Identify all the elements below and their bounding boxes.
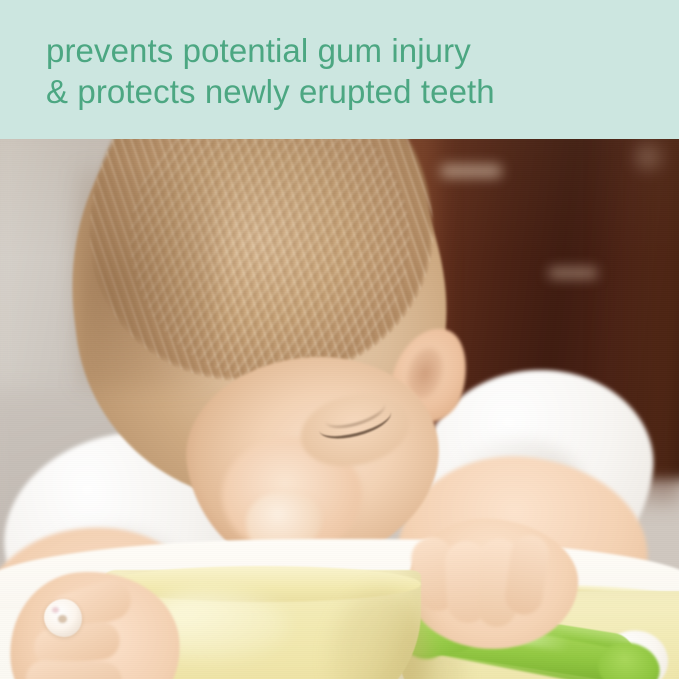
cereal-puff-speck: [52, 607, 59, 613]
product-feature-image: prevents potential gum injury & protects…: [0, 0, 679, 679]
left-finger-3: [25, 659, 122, 679]
cereal-puff-hole: [58, 615, 67, 623]
lifestyle-photo: [0, 139, 679, 679]
feature-banner: prevents potential gum injury & protects…: [0, 0, 679, 139]
wood-highlight-upper: [440, 164, 502, 178]
banner-headline-line-1: prevents potential gum injury: [46, 30, 646, 71]
banner-text-block: prevents potential gum injury & protects…: [46, 30, 646, 112]
banner-headline-line-2: & protects newly erupted teeth: [46, 71, 646, 112]
head-shadow: [78, 169, 218, 389]
wood-highlight-lower: [548, 267, 598, 279]
